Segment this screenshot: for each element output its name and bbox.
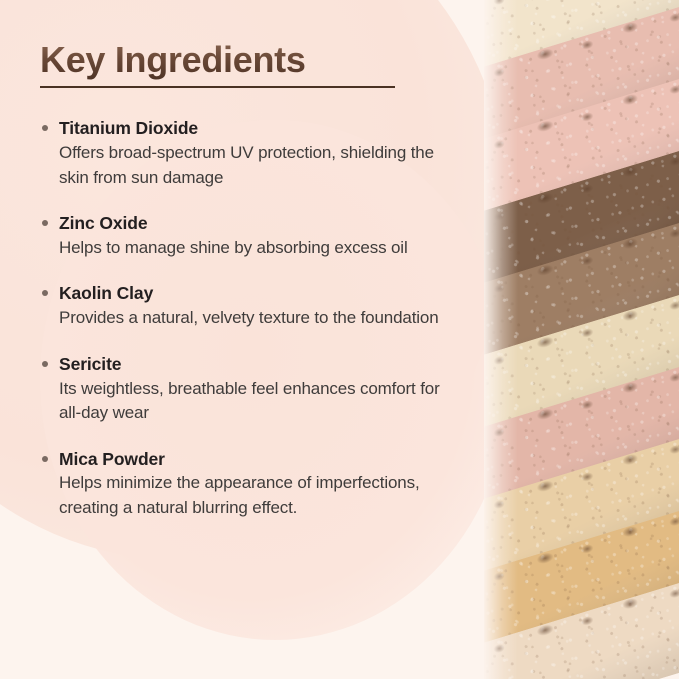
ingredient-item: Titanium DioxideOffers broad-spectrum UV… <box>40 116 480 190</box>
bullet-dot-icon <box>42 125 48 131</box>
ingredient-description: Offers broad-spectrum UV protection, shi… <box>59 141 459 190</box>
ingredient-description: Helps to manage shine by absorbing exces… <box>59 236 459 260</box>
page-title: Key Ingredients <box>40 40 306 80</box>
bullet-dot-icon <box>42 290 48 296</box>
ingredient-name: Mica Powder <box>59 447 480 472</box>
ingredient-list: Titanium DioxideOffers broad-spectrum UV… <box>40 116 480 520</box>
powder-swatch-stack <box>484 0 679 679</box>
powder-swatch-panel <box>484 0 679 679</box>
bullet-dot-icon <box>42 456 48 462</box>
ingredient-description: Its weightless, breathable feel enhances… <box>59 377 459 426</box>
key-ingredients-poster: Key Ingredients Titanium DioxideOffers b… <box>0 0 679 679</box>
ingredient-name: Zinc Oxide <box>59 211 480 236</box>
ingredient-item: Zinc OxideHelps to manage shine by absor… <box>40 211 480 260</box>
content-column: Key Ingredients Titanium DioxideOffers b… <box>0 0 500 679</box>
ingredient-item: Mica PowderHelps minimize the appearance… <box>40 447 480 521</box>
bullet-dot-icon <box>42 220 48 226</box>
ingredient-item: SericiteIts weightless, breathable feel … <box>40 352 480 426</box>
ingredient-description: Helps minimize the appearance of imperfe… <box>59 471 459 520</box>
ingredient-description: Provides a natural, velvety texture to t… <box>59 306 459 330</box>
bullet-dot-icon <box>42 361 48 367</box>
ingredient-name: Titanium Dioxide <box>59 116 480 141</box>
title-underline-rule <box>40 86 395 88</box>
ingredient-name: Sericite <box>59 352 480 377</box>
ingredient-item: Kaolin ClayProvides a natural, velvety t… <box>40 281 480 330</box>
ingredient-name: Kaolin Clay <box>59 281 480 306</box>
